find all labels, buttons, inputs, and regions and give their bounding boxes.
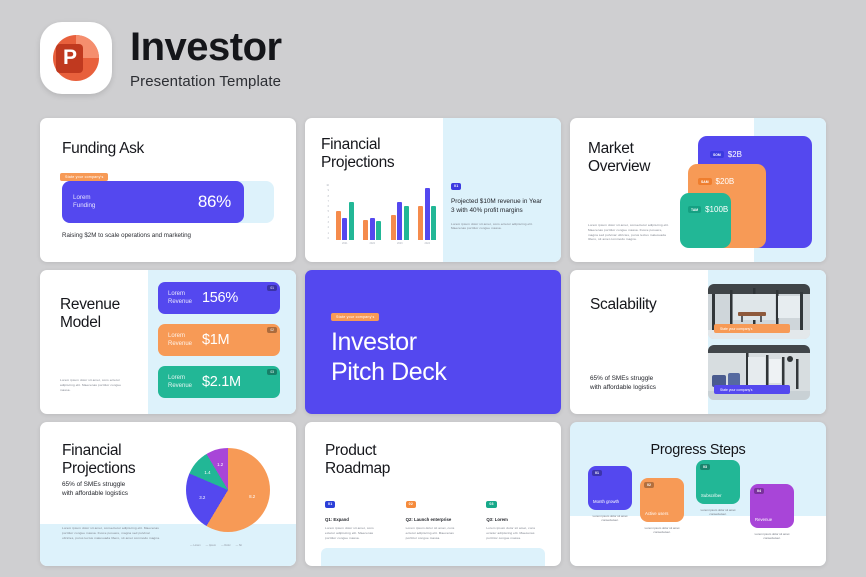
projection-body: Projected $10M revenue in Year 3 with 40…: [451, 197, 547, 216]
progress-step-caption: Lorem ipsum dolor sit amet consectetuer.: [694, 508, 742, 517]
y-tick: 9: [328, 189, 329, 192]
bar: [336, 211, 341, 240]
bar: [391, 215, 396, 240]
progress-step-card: 04Revenue: [750, 484, 794, 528]
som-label-group: SOM $2B: [710, 150, 742, 159]
roadmap-heading-3: Q3: Lorem: [486, 517, 545, 522]
powerpoint-letter: P: [56, 44, 83, 73]
pie-legend: — Lorem— Ipsum— Dolor— Sit: [190, 544, 242, 547]
slide-title: Revenue Model: [60, 296, 120, 333]
roadmap-column-3: 03 Q3: Lorem Lorem ipsum dolor sit amet,…: [486, 492, 545, 540]
office-photo-2: State your company's: [708, 345, 810, 400]
slide-progress-steps[interactable]: Progress Steps 01Month growthLorem ipsum…: [570, 422, 826, 566]
som-chip: SOM: [710, 151, 724, 158]
bar: [431, 206, 436, 240]
funding-bar-label: Lorem Funding: [73, 194, 95, 211]
revenue-card-1-label: Lorem Revenue: [168, 290, 192, 306]
bottom-panel: [321, 548, 545, 566]
progress-step-card: 02Active users: [640, 478, 684, 522]
x-tick: 2022: [369, 242, 375, 245]
x-tick: 2021: [342, 242, 348, 245]
x-tick: 2023: [397, 242, 403, 245]
company-tag-badge: State your company's: [331, 313, 379, 321]
roadmap-heading-1: Q1: Expand: [325, 517, 384, 522]
slide-market-overview[interactable]: Market Overview SOM $2B SAM $20B TAM $10…: [570, 118, 826, 262]
bar: [425, 188, 430, 240]
y-tick: 5: [328, 210, 329, 213]
x-axis-labels: 2021202220232024: [331, 242, 441, 245]
legend-item: — Sit: [236, 544, 242, 547]
revenue-card-1-num: 01: [267, 285, 277, 291]
bar-plot-area: [331, 184, 441, 240]
pie-subtitle: 65% of SMEs struggle with affordable log…: [62, 480, 128, 499]
pie-slice-label: 1.2: [217, 462, 223, 467]
bar-group: [363, 218, 381, 240]
market-box-tam: TAM $100B: [680, 193, 731, 248]
pie-chart: 8.23.21.41.2: [186, 448, 270, 532]
revenue-card-2-num: 02: [267, 327, 277, 333]
funding-progress-fill: Lorem Funding 86%: [62, 181, 244, 223]
revenue-card-3-label: Lorem Revenue: [168, 374, 192, 390]
slide-title: Product Roadmap: [325, 442, 390, 479]
x-tick: 2024: [424, 242, 430, 245]
y-tick: 3: [328, 221, 329, 224]
powerpoint-icon: P: [40, 22, 112, 94]
page-header: P Investor Presentation Template: [40, 22, 282, 94]
tam-chip: TAM: [688, 206, 701, 213]
revenue-lorem: Lorem ipsum dolor sit amet, cons ectetur…: [60, 378, 122, 392]
slide-title: Funding Ask: [62, 140, 144, 158]
y-tick: 8: [328, 195, 329, 198]
slide-title: Investor Pitch Deck: [331, 328, 446, 387]
bar: [370, 218, 375, 240]
y-tick: 2: [328, 226, 329, 229]
slide-funding-ask[interactable]: Funding Ask Lorem Funding 86% State your…: [40, 118, 296, 262]
revenue-card-3-value: $2.1M: [202, 374, 241, 390]
progress-step-caption: Lorem ipsum dolor sit amet consectetuer.: [748, 532, 796, 541]
slide-financial-projections-bar[interactable]: Financial Projections 109876543210 20212…: [305, 118, 561, 262]
progress-step-number: 01: [592, 470, 602, 476]
progress-step-card: 01Month growth: [588, 466, 632, 510]
revenue-card-2-label: Lorem Revenue: [168, 332, 192, 348]
projection-text-block: 01 Projected $10M revenue in Year 3 with…: [451, 174, 547, 231]
market-lorem: Lorem ipsum dolor sit amet, consectetur …: [588, 223, 670, 242]
bar-group: [391, 202, 409, 240]
roadmap-columns: 01 Q1: Expand Lorem ipsum dolor sit amet…: [325, 492, 545, 540]
page-subtitle: Presentation Template: [130, 73, 282, 90]
bar: [363, 220, 368, 240]
sam-value: $20B: [716, 177, 735, 186]
som-value: $2B: [728, 150, 742, 159]
office-photo-1: State your company's: [708, 284, 810, 339]
powerpoint-glyph: P: [53, 35, 99, 81]
photo-2-caption: State your company's: [714, 385, 790, 394]
header-text: Investor Presentation Template: [130, 26, 282, 90]
y-axis-ticks: 109876543210: [319, 184, 329, 240]
revenue-card-2-value: $1M: [202, 332, 229, 348]
y-tick: 10: [326, 184, 329, 187]
bar: [376, 221, 381, 240]
progress-step-number: 03: [700, 464, 710, 470]
funding-progress-track: Lorem Funding 86%: [62, 181, 274, 223]
progress-step-number: 04: [754, 488, 764, 494]
bar: [397, 202, 402, 240]
pie-lorem: Lorem ipsum dolor sit amet, consectetur …: [62, 526, 160, 540]
company-tag-badge: State your company's: [60, 173, 108, 181]
progress-step-label: Subscriber: [701, 493, 722, 498]
roadmap-badge-2: 02: [406, 501, 416, 508]
tam-value: $100B: [705, 205, 728, 214]
bar: [418, 206, 423, 240]
roadmap-column-1: 01 Q1: Expand Lorem ipsum dolor sit amet…: [325, 492, 384, 540]
bar: [349, 202, 354, 240]
progress-step-card: 03Subscriber: [696, 460, 740, 504]
slide-product-roadmap[interactable]: Product Roadmap 01 Q1: Expand Lorem ipsu…: [305, 422, 561, 566]
progress-step-label: Month growth: [593, 499, 619, 504]
y-tick: 6: [328, 205, 329, 208]
slide-investor-pitch-deck[interactable]: State your company's Investor Pitch Deck: [305, 270, 561, 414]
sam-label-group: SAM $20B: [698, 177, 734, 186]
legend-item: — Lorem: [190, 544, 201, 547]
page-title: Investor: [130, 26, 282, 68]
slide-title: Market Overview: [588, 140, 650, 177]
legend-item: — Ipsum: [206, 544, 216, 547]
y-tick: 1: [328, 232, 329, 235]
roadmap-body-1: Lorem ipsum dolor sit amet, cons ectetur…: [325, 526, 384, 540]
projection-lorem: Lorem ipsum dolor sit amet, cons ectetur…: [451, 222, 547, 232]
bar: [404, 206, 409, 240]
progress-step-label: Active users: [645, 511, 668, 516]
slide-title: Progress Steps: [570, 442, 826, 458]
revenue-card-1: Lorem Revenue 156% 01: [158, 282, 280, 314]
funding-footer-text: Raising $2M to scale operations and mark…: [62, 232, 191, 239]
revenue-card-1-value: 156%: [202, 290, 238, 306]
revenue-card-3: Lorem Revenue $2.1M 03: [158, 366, 280, 398]
progress-step-number: 02: [644, 482, 654, 488]
tam-label-group: TAM $100B: [688, 205, 728, 214]
pie-slice-label: 1.4: [204, 470, 210, 475]
legend-item: — Dolor: [221, 544, 231, 547]
progress-step-caption: Lorem ipsum dolor sit amet consectetuer.: [586, 514, 634, 523]
progress-step-caption: Lorem ipsum dolor sit amet consectetuer.: [638, 526, 686, 535]
slide-title: Financial Projections: [62, 442, 135, 479]
bar-group: [418, 188, 436, 240]
bar-chart: 109876543210 2021202220232024: [319, 184, 441, 250]
bar: [342, 218, 347, 240]
pie-slice-label: 3.2: [199, 495, 205, 500]
roadmap-heading-2: Q2: Launch enterprise: [406, 517, 465, 522]
slide-title: Scalability: [590, 296, 656, 314]
step-badge: 01: [451, 183, 461, 190]
roadmap-column-2: 02 Q2: Launch enterprise Lorem ipsum dol…: [406, 492, 465, 540]
slide-title: Financial Projections: [321, 136, 394, 173]
slide-grid: Funding Ask Lorem Funding 86% State your…: [40, 118, 826, 566]
revenue-card-2: Lorem Revenue $1M 02: [158, 324, 280, 356]
slide-scalability[interactable]: Scalability 65% of SMEs struggle with af…: [570, 270, 826, 414]
slide-financial-projections-pie[interactable]: Financial Projections 65% of SMEs strugg…: [40, 422, 296, 566]
roadmap-body-2: Lorem ipsum dolor sit amet, cons ectetur…: [406, 526, 465, 540]
y-tick: 7: [328, 200, 329, 203]
pie-slice-label: 8.2: [249, 494, 255, 499]
roadmap-badge-3: 03: [486, 501, 496, 508]
progress-step-label: Revenue: [755, 517, 772, 522]
y-tick: 4: [328, 216, 329, 219]
scalability-footer: 65% of SMEs struggle with affordable log…: [590, 374, 656, 393]
funding-percent-value: 86%: [198, 192, 231, 212]
roadmap-body-3: Lorem ipsum dolor sit amet, cons ectetur…: [486, 526, 545, 540]
bar-group: [336, 202, 354, 240]
slide-revenue-model[interactable]: Revenue Model Lorem Revenue 156% 01 Lore…: [40, 270, 296, 414]
roadmap-badge-1: 01: [325, 501, 335, 508]
y-tick: 0: [328, 237, 329, 240]
template-gallery-page: P Investor Presentation Template Funding…: [0, 0, 866, 577]
revenue-card-3-num: 03: [267, 369, 277, 375]
sam-chip: SAM: [698, 178, 712, 185]
photo-1-caption: State your company's: [714, 324, 790, 333]
